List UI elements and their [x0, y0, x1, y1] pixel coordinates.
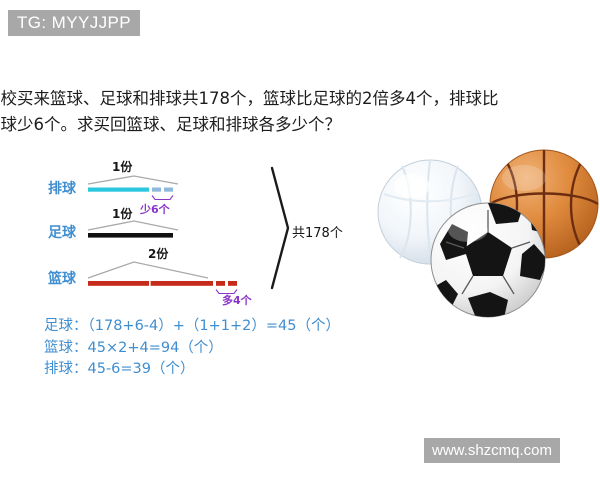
slide-canvas: TG: MYYJJPP 学校买来篮球、足球和排球共178个，篮球比足球的2倍多4… [0, 0, 600, 480]
volleyball-bar [88, 188, 149, 192]
part-label-soccer: 1份 [112, 205, 132, 222]
row-label-basketball: 篮球 [48, 268, 76, 288]
volleyball-bar-dash-1 [152, 188, 161, 192]
soccer-brace [88, 221, 178, 230]
balls-illustration [372, 148, 600, 333]
problem-line-1: 学校买来篮球、足球和排球共178个，篮球比足球的2倍多4个，排球比 [0, 86, 600, 112]
basketball-brace [88, 262, 208, 278]
volleyball-bar-dash-2 [164, 188, 173, 192]
problem-statement: 学校买来篮球、足球和排球共178个，篮球比足球的2倍多4个，排球比 足球少6个。… [0, 86, 600, 138]
solution-block: 足球：（178+6-4）+（1+1+2）=45（个） 篮球：45×2+4=94（… [44, 316, 340, 381]
volleyball-diff-brace [152, 196, 173, 200]
basketball-bar-midpoint-tick [149, 280, 151, 287]
problem-line-2: 足球少6个。求买回篮球、足球和排球各多少个？ [0, 112, 600, 138]
site-watermark: www.shzcmq.com [424, 438, 560, 463]
volleyball-brace [88, 176, 178, 184]
row-label-soccer: 足球 [48, 222, 76, 242]
total-label: 共178个 [292, 222, 343, 241]
diff-label-more-four: 多4个 [222, 292, 252, 308]
diff-label-less-six: 少6个 [140, 201, 170, 217]
total-bracket [272, 168, 288, 288]
solution-line-basketball: 篮球：45×2+4=94（个） [44, 338, 340, 360]
basketball-bar-dash-1 [216, 281, 225, 286]
balls-svg [372, 148, 600, 333]
solution-line-volleyball: 排球：45-6=39（个） [44, 359, 340, 381]
solution-line-soccer: 足球：（178+6-4）+（1+1+2）=45（个） [44, 316, 340, 338]
soccer-bar [88, 233, 173, 238]
part-label-basketball: 2份 [148, 245, 168, 262]
row-label-volleyball: 排球 [48, 178, 76, 198]
basketball-bar-dash-2 [228, 281, 237, 286]
telegram-watermark: TG: MYYJJPP [8, 10, 140, 36]
part-label-volleyball: 1份 [112, 158, 132, 175]
